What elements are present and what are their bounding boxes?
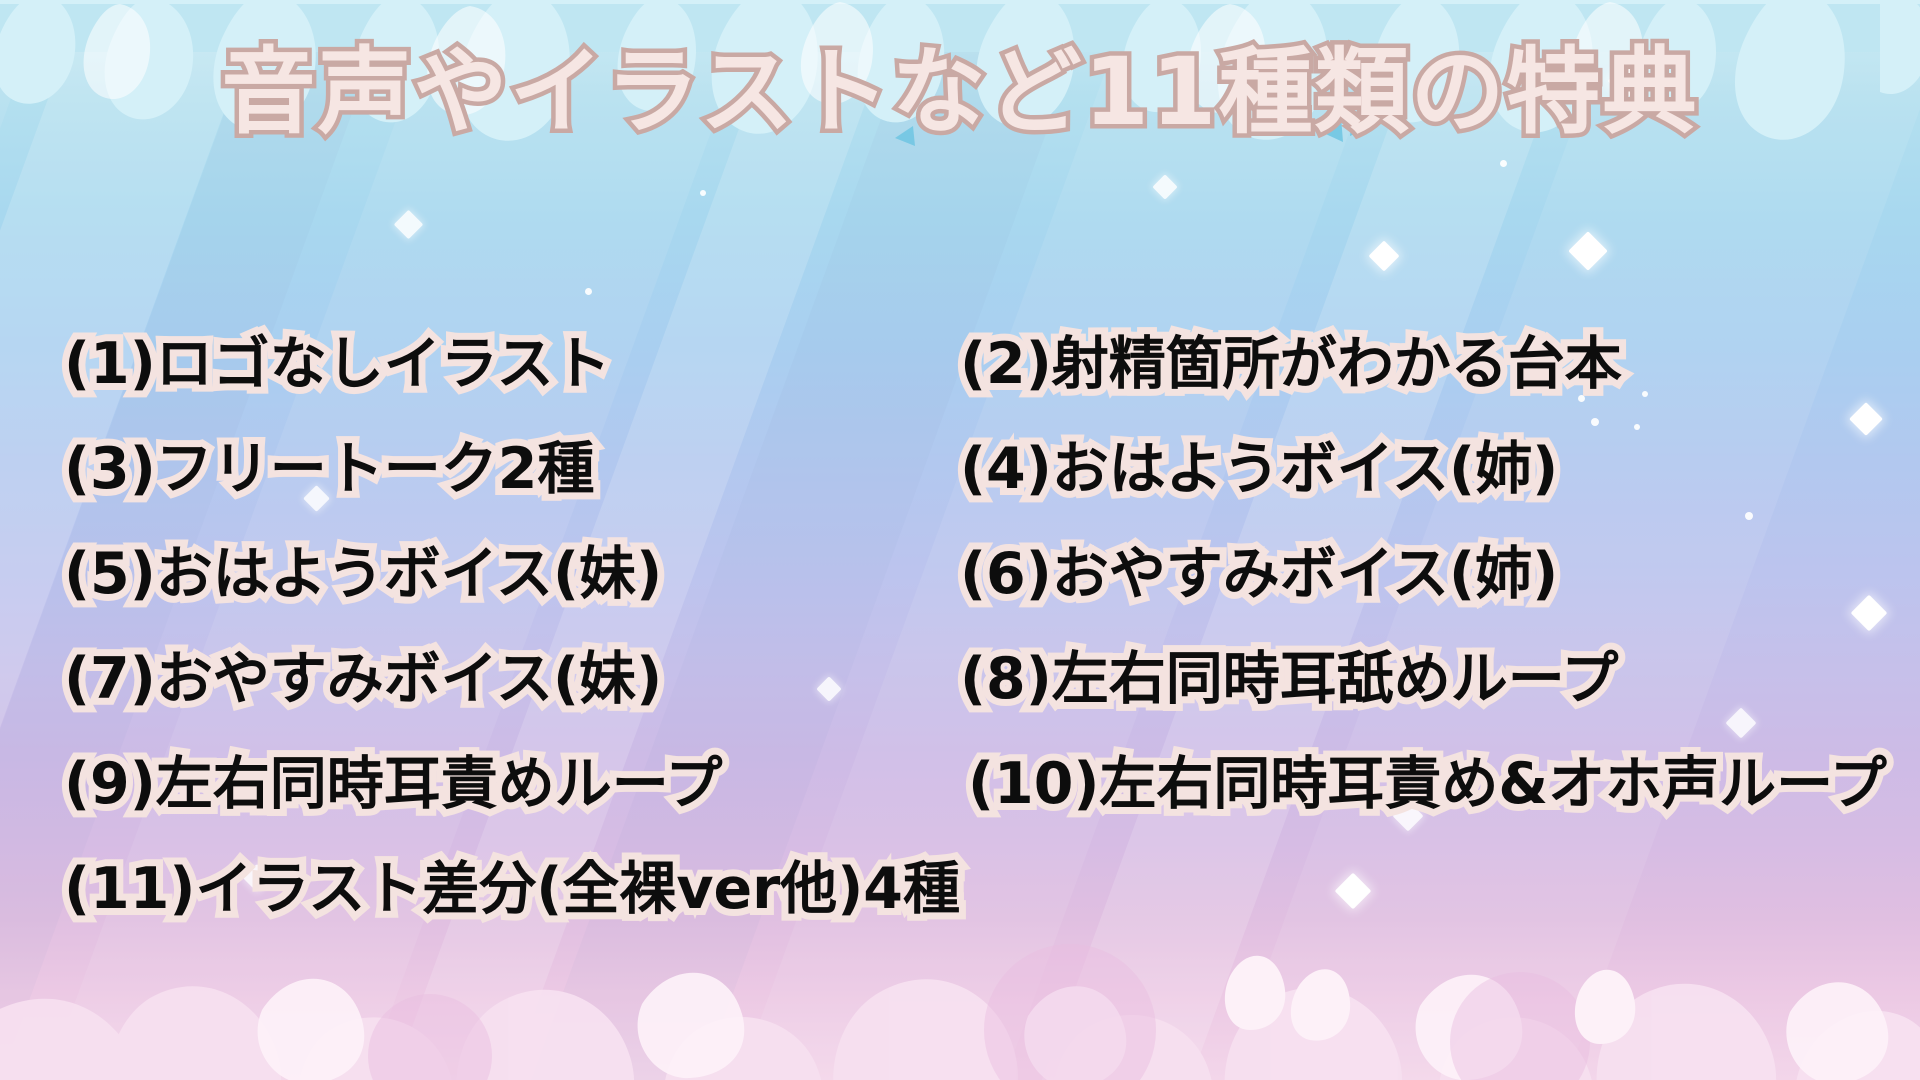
benefit-item-8: (8)左右同時耳舐めループ [960, 633, 1618, 725]
benefit-row: (5)おはようボイス(妹) (6)おやすみボイス(姉) [0, 528, 1920, 620]
sparkle-dot [1500, 160, 1507, 167]
slide-canvas: 音声やイラストなど11種類の特典 (1)ロゴなしイラスト (2)射精箇所がわかる… [0, 0, 1920, 1080]
benefit-item-5: (5)おはようボイス(妹) [64, 528, 662, 620]
benefit-item-10: (10)左右同時耳責め&オホ声ループ [968, 738, 1887, 830]
benefit-row: (11)イラスト差分(全裸ver他)4種 [0, 843, 1920, 935]
benefit-item-3: (3)フリートーク2種 [64, 423, 594, 515]
diamond-sparkle [1368, 240, 1399, 271]
benefit-row: (1)ロゴなしイラスト (2)射精箇所がわかる台本 [0, 318, 1920, 410]
diamond-sparkle [394, 210, 424, 240]
benefit-item-4: (4)おはようボイス(姉) [960, 423, 1558, 515]
benefit-item-6: (6)おやすみボイス(姉) [960, 528, 1558, 620]
benefit-row: (7)おやすみボイス(妹) (8)左右同時耳舐めループ [0, 633, 1920, 725]
sparkle-dot [585, 288, 592, 295]
benefit-list: (1)ロゴなしイラスト (2)射精箇所がわかる台本 (3)フリートーク2種 (4… [0, 318, 1920, 958]
diamond-sparkle [1152, 174, 1177, 199]
benefit-item-9: (9)左右同時耳責めループ [64, 738, 722, 830]
benefit-row: (9)左右同時耳責めループ (10)左右同時耳責め&オホ声ループ [0, 738, 1920, 830]
sparkle-dot [700, 190, 706, 196]
benefit-item-2: (2)射精箇所がわかる台本 [960, 318, 1622, 410]
benefit-item-1: (1)ロゴなしイラスト [64, 318, 611, 410]
diamond-sparkle [1568, 231, 1608, 271]
benefit-item-11: (11)イラスト差分(全裸ver他)4種 [64, 843, 960, 935]
benefit-item-7: (7)おやすみボイス(妹) [64, 633, 662, 725]
page-title: 音声やイラストなど11種類の特典 [0, 46, 1920, 140]
benefit-row: (3)フリートーク2種 (4)おはようボイス(姉) [0, 423, 1920, 515]
